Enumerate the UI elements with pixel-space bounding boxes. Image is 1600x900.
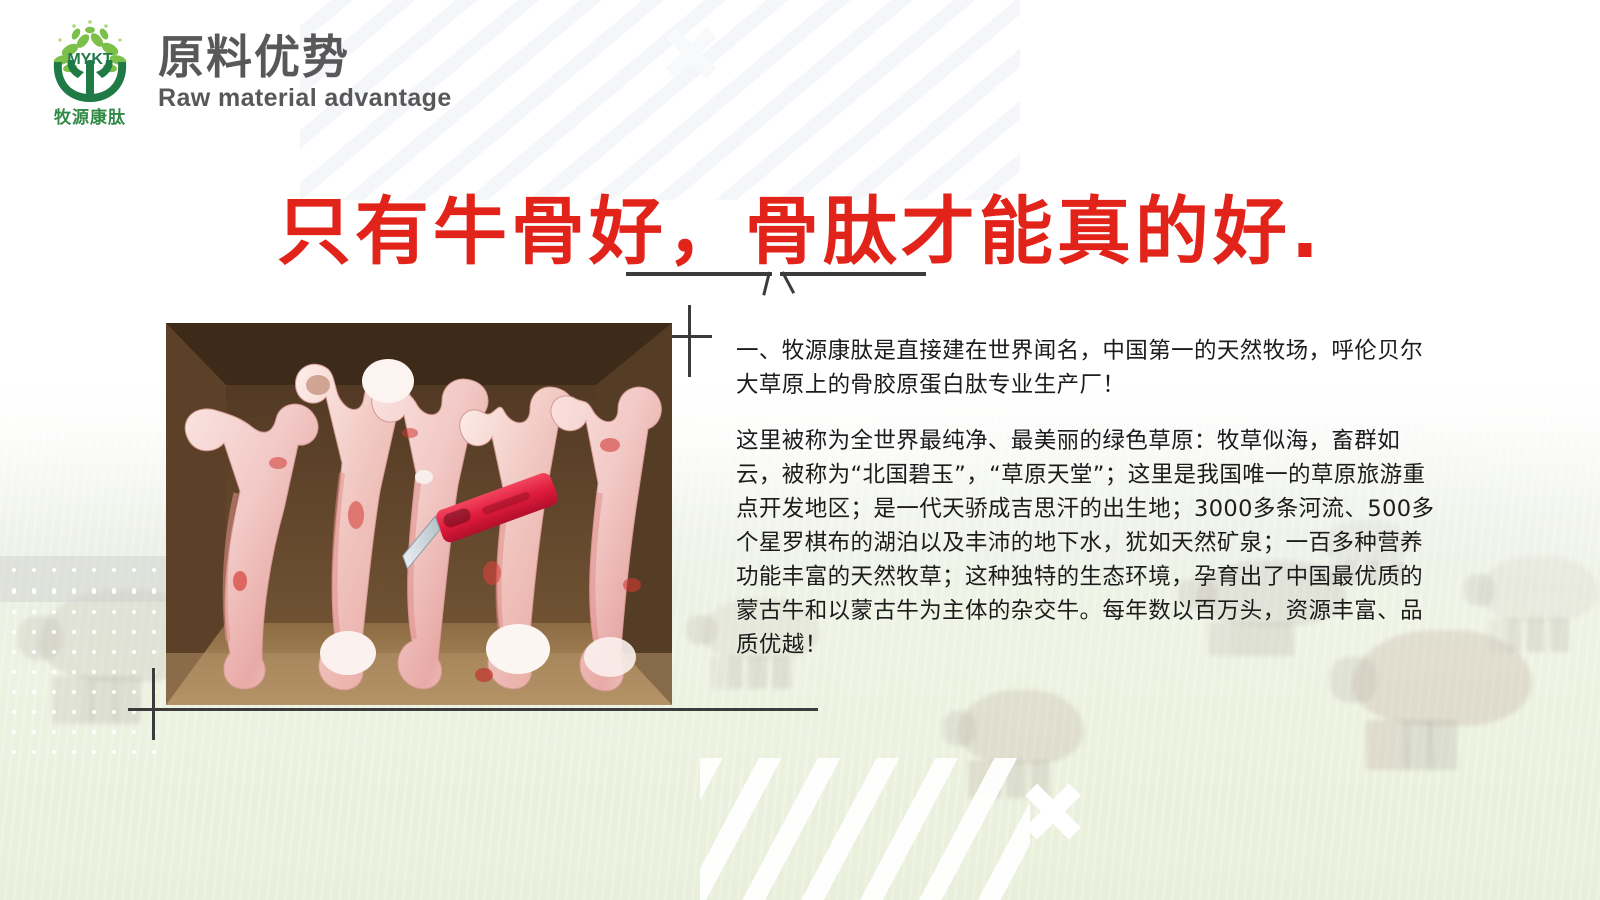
product-photo-area: [166, 323, 672, 705]
page-title-cn: 原料优势: [158, 33, 452, 82]
body-paragraph-2: 这里被称为全世界最纯净、最美丽的绿色草原：牧草似海，畜群如云，被称为“北国碧玉”…: [736, 424, 1438, 662]
divider-v-notch-icon: [768, 272, 786, 294]
divider-segment-left: [626, 272, 772, 276]
brand-logo: MYKT 牧源康肽: [40, 16, 140, 126]
slide-header: MYKT 牧源康肽 原料优势 Raw material advantage: [40, 16, 452, 126]
slide-root: MYKT 牧源康肽 原料优势 Raw material advantage 只有…: [0, 0, 1600, 900]
page-title-en: Raw material advantage: [158, 84, 452, 113]
cattle-silhouette: [1478, 556, 1598, 622]
headline: 只有牛骨好，骨肽才能真的好.: [0, 172, 1600, 279]
x-mark-icon: [1022, 780, 1084, 842]
cattle-silhouette: [958, 690, 1084, 764]
logo-mark-text: MYKT: [67, 51, 113, 68]
dot-grid-shade: [0, 556, 172, 602]
header-title-block: 原料优势 Raw material advantage: [158, 29, 452, 113]
tree-in-hands-logo-icon: MYKT: [40, 16, 140, 108]
logo-brand-name: 牧源康肽: [40, 103, 140, 128]
beef-bones-photo: [166, 323, 672, 705]
body-paragraph-1: 一、牧源康肽是直接建在世界闻名，中国第一的天然牧场，呼伦贝尔大草原上的骨胶原蛋白…: [736, 334, 1438, 402]
headline-divider: [626, 268, 926, 294]
diagonal-stripes: [700, 758, 1030, 900]
x-mark-icon: [662, 24, 720, 82]
beef-bones-illustration: [166, 323, 672, 705]
divider-segment-right: [780, 272, 926, 276]
body-text: 一、牧源康肽是直接建在世界闻名，中国第一的天然牧场，呼伦贝尔大草原上的骨胶原蛋白…: [736, 334, 1438, 662]
